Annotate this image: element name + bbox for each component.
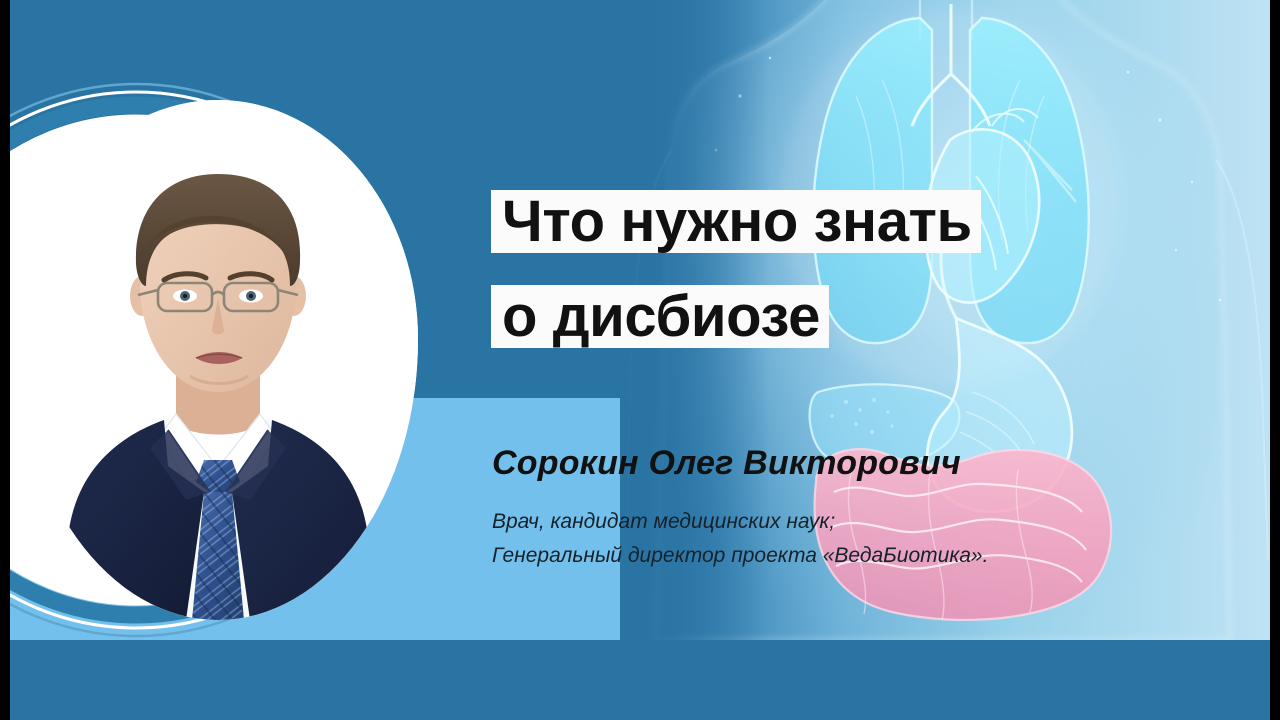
speaker-credential-2: Генеральный директор проекта «ВедаБиотик… <box>492 539 988 573</box>
letterbox-left <box>0 0 10 720</box>
slide-canvas: Что нужно знать о дисбиозе Сорокин Олег … <box>0 0 1280 720</box>
slide-title: Что нужно знать о дисбиозе <box>491 190 981 348</box>
speaker-portrait <box>18 100 418 620</box>
letterbox-right <box>1270 0 1280 720</box>
speaker-name: Сорокин Олег Викторович <box>492 443 988 483</box>
title-line-2: о дисбиозе <box>491 285 829 348</box>
portrait-illustration <box>18 100 418 620</box>
speaker-info: Сорокин Олег Викторович Врач, кандидат м… <box>492 443 988 573</box>
title-line-1: Что нужно знать <box>491 190 981 253</box>
speaker-credential-1: Врач, кандидат медицинских наук; <box>492 505 988 539</box>
background-footer-band <box>0 640 1280 720</box>
speaker-credentials: Врач, кандидат медицинских наук; Генерал… <box>492 505 988 573</box>
